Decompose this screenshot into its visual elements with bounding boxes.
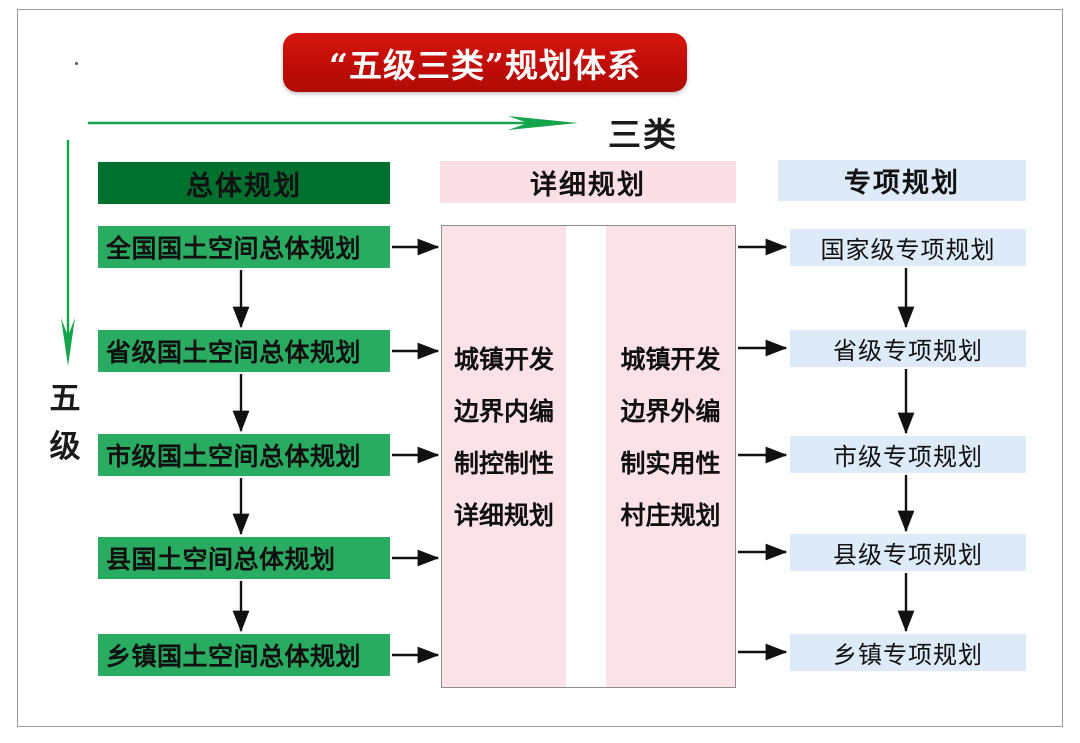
diagram-canvas: “五级三类”规划体系 三类 五 级 总体规划 详细规划 专项规划 全国国土空间总… (0, 0, 1080, 743)
horizontal-axis-label: 三类 (608, 108, 678, 156)
overall-plan-box-county[interactable]: 县国土空间总体规划 (98, 537, 390, 579)
page-title: “五级三类”规划体系 (283, 33, 687, 92)
detailed-left-line-2: 边界内编 (442, 386, 566, 438)
detailed-left-line-1: 城镇开发 (442, 334, 566, 386)
overall-plan-box-national[interactable]: 全国国土空间总体规划 (98, 226, 390, 268)
detailed-right-line-4: 村庄规划 (606, 490, 735, 542)
special-plan-box-provincial[interactable]: 省级专项规划 (790, 330, 1026, 367)
vertical-axis-label-char-2: 级 (44, 423, 86, 471)
overall-plan-box-township[interactable]: 乡镇国土空间总体规划 (98, 634, 390, 676)
detailed-left-line-3: 制控制性 (442, 438, 566, 490)
detailed-right-line-1: 城镇开发 (606, 334, 735, 386)
detailed-plan-text-inside-boundary: 城镇开发 边界内编 制控制性 详细规划 (442, 334, 566, 542)
horizontal-axis-arrow-icon (88, 114, 578, 132)
vertical-axis-label-char-1: 五 (44, 375, 86, 423)
detailed-plan-panel: 城镇开发 边界内编 制控制性 详细规划 城镇开发 边界外编 制实用性 村庄规划 (441, 225, 736, 688)
special-plan-box-municipal[interactable]: 市级专项规划 (790, 436, 1026, 473)
detailed-left-line-4: 详细规划 (442, 490, 566, 542)
detailed-right-line-2: 边界外编 (606, 386, 735, 438)
page-title-text: “五级三类”规划体系 (329, 39, 641, 87)
special-plan-box-national[interactable]: 国家级专项规划 (790, 229, 1026, 266)
speck-artifact (75, 62, 78, 65)
special-plan-box-township[interactable]: 乡镇专项规划 (790, 634, 1026, 671)
vertical-axis-label: 五 级 (44, 375, 86, 471)
vertical-axis-arrow-icon (58, 140, 78, 366)
overall-plan-box-provincial[interactable]: 省级国土空间总体规划 (98, 330, 390, 372)
overall-plan-box-municipal[interactable]: 市级国土空间总体规划 (98, 434, 390, 476)
column-header-overall: 总体规划 (98, 162, 390, 204)
detailed-right-line-3: 制实用性 (606, 438, 735, 490)
special-plan-box-county[interactable]: 县级专项规划 (790, 534, 1026, 571)
column-header-detailed: 详细规划 (440, 161, 736, 203)
detailed-plan-text-outside-boundary: 城镇开发 边界外编 制实用性 村庄规划 (606, 334, 735, 542)
column-header-special: 专项规划 (778, 160, 1026, 201)
